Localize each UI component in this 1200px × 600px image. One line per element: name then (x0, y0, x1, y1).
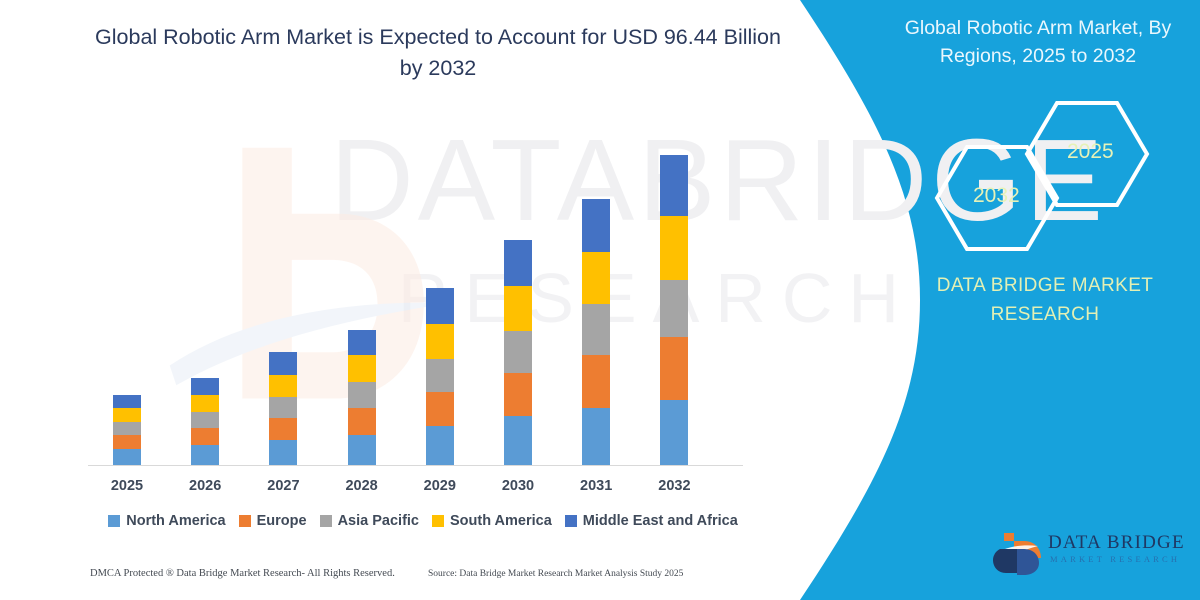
segment-2029-asia-pacific (426, 359, 454, 392)
segment-2031-asia-pacific (582, 304, 610, 355)
segment-2030-asia-pacific (504, 331, 532, 373)
segment-2029-europe (426, 392, 454, 426)
bar-2030 (504, 240, 532, 465)
legend-swatch-europe (239, 515, 251, 527)
segment-2031-north-america (582, 408, 610, 465)
x-axis-label-2025: 2025 (92, 478, 162, 494)
x-axis-label-2030: 2030 (483, 478, 553, 494)
hexagon-2025-label: 2025 (1067, 140, 1114, 164)
legend-item-middle-east-and-africa[interactable]: Middle East and Africa (565, 513, 738, 529)
x-axis-label-2031: 2031 (561, 478, 631, 494)
brand-name: DATA BRIDGE MARKET RESEARCH (900, 272, 1190, 329)
segment-2030-europe (504, 373, 532, 416)
segment-2027-asia-pacific (269, 397, 297, 418)
bar-2026 (191, 378, 219, 465)
segment-2028-north-america (348, 435, 376, 465)
x-axis-label-2029: 2029 (405, 478, 475, 494)
legend-swatch-north-america (108, 515, 120, 527)
segment-2027-north-america (269, 440, 297, 465)
segment-2027-europe (269, 418, 297, 440)
segment-2030-south-america (504, 286, 532, 331)
infographic-canvas: DATABRIDGE RESEARCH Global Robotic Arm M… (0, 0, 1200, 600)
legend-item-europe[interactable]: Europe (239, 513, 307, 529)
company-logo: DATA BRIDGE MARKET RESEARCH (990, 525, 1190, 581)
segment-2029-middle-east-and-africa (426, 288, 454, 324)
segment-2025-asia-pacific (113, 422, 141, 435)
bar-2027 (269, 352, 297, 465)
segment-2025-north-america (113, 449, 141, 465)
segment-2032-south-america (660, 216, 688, 280)
data-bridge-logo-icon (990, 525, 1046, 577)
logo-wordmark: DATA BRIDGE (1048, 532, 1185, 554)
segment-2031-middle-east-and-africa (582, 199, 610, 252)
segment-2026-middle-east-and-africa (191, 378, 219, 395)
segment-2032-europe (660, 337, 688, 400)
bar-2031 (582, 199, 610, 465)
logo-subtext: MARKET RESEARCH (1050, 554, 1180, 564)
segment-2027-south-america (269, 375, 297, 397)
x-axis-label-2026: 2026 (170, 478, 240, 494)
legend-label-north-america: North America (126, 513, 225, 529)
legend-swatch-south-america (432, 515, 444, 527)
legend-label-south-america: South America (450, 513, 552, 529)
legend-item-north-america[interactable]: North America (108, 513, 225, 529)
segment-2030-north-america (504, 416, 532, 465)
segment-2031-europe (582, 355, 610, 408)
legend-item-south-america[interactable]: South America (432, 513, 552, 529)
segment-2025-south-america (113, 408, 141, 422)
bar-2025 (113, 395, 141, 465)
bar-2032 (660, 155, 688, 465)
x-axis-label-2028: 2028 (327, 478, 397, 494)
segment-2025-middle-east-and-africa (113, 395, 141, 408)
segment-2028-middle-east-and-africa (348, 330, 376, 355)
segment-2026-europe (191, 428, 219, 445)
hexagon-2032-label: 2032 (973, 184, 1020, 208)
brand-line-1: DATA BRIDGE MARKET (937, 275, 1154, 296)
bar-2028 (348, 330, 376, 465)
segment-2026-south-america (191, 395, 219, 412)
segment-2029-south-america (426, 324, 454, 359)
segment-2032-middle-east-and-africa (660, 155, 688, 216)
legend-item-asia-pacific[interactable]: Asia Pacific (320, 513, 419, 529)
segment-2027-middle-east-and-africa (269, 352, 297, 375)
legend-label-europe: Europe (257, 513, 307, 529)
segment-2032-asia-pacific (660, 280, 688, 337)
segment-2026-north-america (191, 445, 219, 465)
segment-2025-europe (113, 435, 141, 449)
segment-2029-north-america (426, 426, 454, 465)
segment-2026-asia-pacific (191, 412, 219, 428)
segment-2031-south-america (582, 252, 610, 304)
x-axis-label-2027: 2027 (248, 478, 318, 494)
segment-2028-europe (348, 408, 376, 435)
brand-line-2: RESEARCH (991, 304, 1100, 325)
segment-2028-asia-pacific (348, 382, 376, 408)
segment-2028-south-america (348, 355, 376, 382)
bar-2029 (426, 288, 454, 465)
panel-title: Global Robotic Arm Market, By Regions, 2… (888, 14, 1188, 71)
x-axis-label-2032: 2032 (639, 478, 709, 494)
footer-source: Source: Data Bridge Market Research Mark… (428, 569, 683, 579)
segment-2032-north-america (660, 400, 688, 465)
legend-swatch-asia-pacific (320, 515, 332, 527)
legend-swatch-middle-east-and-africa (565, 515, 577, 527)
legend-label-asia-pacific: Asia Pacific (338, 513, 419, 529)
chart-legend: North AmericaEuropeAsia PacificSouth Ame… (88, 513, 758, 529)
chart-axis-baseline (88, 465, 743, 466)
stacked-bar-chart: 20252026202720282029203020312032 (0, 0, 800, 600)
hexagon-group: 2025 2032 (915, 98, 1175, 258)
footer-copyright: DMCA Protected ® Data Bridge Market Rese… (90, 568, 395, 579)
legend-label-middle-east-and-africa: Middle East and Africa (583, 513, 738, 529)
segment-2030-middle-east-and-africa (504, 240, 532, 286)
